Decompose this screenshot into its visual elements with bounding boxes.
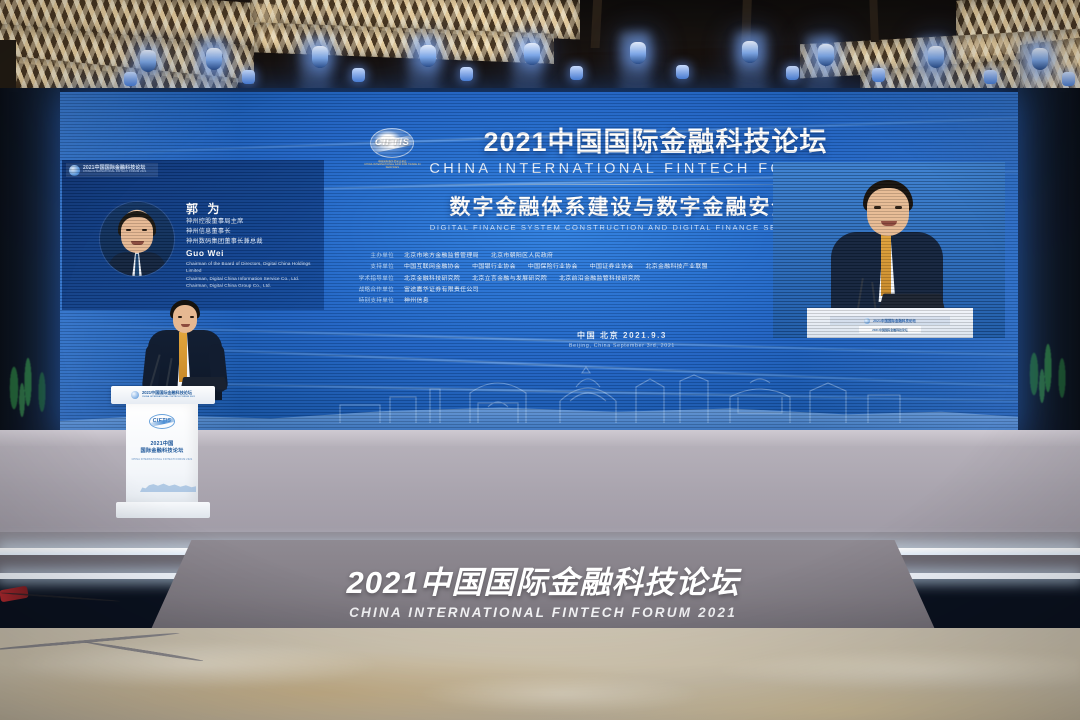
ciftis-globe-icon: [149, 414, 175, 429]
stage-light: [524, 43, 540, 65]
organizer-values: 富途嘉华证券有限责任公司: [404, 286, 489, 295]
ceiling: [0, 0, 1080, 96]
organizer-values: 北京金融科技研究院 北京立言金融与发展研究院 北京前沿金融监管科技研究院: [404, 275, 650, 284]
speaker-eye: [190, 316, 194, 318]
card-corner-logo: 2021中国国际金融科技论坛 CHINA INTERNATIONAL FINTE…: [66, 163, 158, 177]
banner-title-en: CHINA INTERNATIONAL FINTECH FORUM 2021: [349, 605, 737, 620]
portrait-eye: [126, 229, 131, 231]
stage-light: [206, 48, 222, 70]
organizer-label: 支持单位: [330, 263, 394, 271]
speaking-podium: 2021中国国际金融科技论坛 CHINA INTERNATIONAL FINTE…: [120, 386, 206, 518]
organizer-name: 北京金融科技研究院: [404, 276, 460, 282]
event-date-en: Beijing, China September 3rd, 2021: [272, 343, 972, 349]
venue-floor: [0, 628, 1080, 720]
ciftis-sub-en: CHINA INTERNATIONAL FAIR FOR TRADE IN SE…: [362, 163, 422, 169]
podium-plate-cn: 2021中国国际金融科技论坛: [142, 390, 192, 395]
stage-light: [140, 50, 156, 72]
stage-light: [818, 44, 834, 66]
forum-title-cn: 2021中国国际金融科技论坛: [429, 120, 881, 159]
organizer-name: 北京金融科技产业联盟: [645, 264, 707, 270]
organizer-values: 神州信息: [404, 297, 439, 306]
feed-face: [867, 188, 909, 236]
portrait-eye: [142, 229, 147, 231]
portrait-mouth: [131, 241, 144, 245]
card-corner-logo-text: 2021中国国际金融科技论坛 CHINA INTERNATIONAL FINTE…: [83, 166, 147, 175]
speaker-titles-en: Chairman of the Board of Directors, Digi…: [186, 260, 322, 290]
feed-podium-plate-text: 2021中国国际金融科技论坛: [873, 318, 916, 323]
speaker-face: [173, 305, 197, 333]
stage-light: [786, 66, 799, 80]
stage-light: [872, 68, 885, 82]
ciftis-globe-icon: [69, 165, 80, 176]
organizer-name: 神州信息: [404, 298, 429, 304]
podium-front-panel: CIFTIS 2021中国 国际金融科技论坛 CHINA INTERNATION…: [126, 404, 198, 502]
stage-light: [242, 70, 255, 84]
feed-eye: [874, 206, 881, 209]
stage-light: [1062, 72, 1075, 86]
organizer-label: 学术指导单位: [330, 275, 394, 283]
speaker-lanyard: [179, 332, 187, 382]
stage-light: [420, 45, 436, 67]
stage-light: [928, 46, 944, 68]
organizer-label: 主办单位: [330, 252, 394, 260]
podium-ciftis-logo: CIFTIS: [145, 414, 179, 436]
speaker-name-cn: 郭 为: [186, 200, 222, 217]
organizer-name: 北京立言金融与发展研究院: [472, 276, 547, 282]
organizer-name: 中国银行业协会: [472, 264, 516, 270]
stage-light: [742, 41, 758, 63]
stage-light: [676, 65, 689, 79]
podium-skyline-graphic: [140, 480, 196, 492]
stage-light: [460, 67, 473, 81]
stage-light: [312, 46, 328, 68]
speaker-portrait: [100, 202, 174, 276]
organizer-name: 中国保险行业协会: [528, 264, 578, 270]
organizer-values: 中国互联网金融协会 中国银行业协会 中国保险行业协会 中国证券业协会 北京金融科…: [404, 263, 718, 272]
feed-lower-third-tag: 2021中国国际金融科技论坛: [859, 326, 921, 333]
live-camera-feed: 2021中国国际金融科技论坛 2021中国国际金融科技论坛: [773, 162, 1005, 338]
organizer-name: 北京市朝阳区人民政府: [491, 253, 553, 259]
stage-light: [352, 68, 365, 82]
conference-stage-photo: 2021中国国际金融科技论坛 CHINA INTERNATIONAL FINTE…: [0, 0, 1080, 720]
stage-light: [984, 70, 997, 84]
organizer-label: 战略合作单位: [330, 286, 394, 294]
feed-eye: [895, 206, 902, 209]
wall-right-return: [1018, 88, 1080, 448]
stage-light: [570, 66, 583, 80]
stage-light: [630, 42, 646, 64]
feed-podium: 2021中国国际金融科技论坛: [807, 308, 973, 338]
ciftis-wordmark: CIFTIS: [375, 137, 410, 148]
feed-podium-plate: 2021中国国际金融科技论坛: [830, 316, 950, 325]
organizer-name: 中国互联网金融协会: [404, 264, 460, 270]
organizer-label: 特别支持单位: [330, 297, 394, 305]
podium-plate-text: 2021中国国际金融科技论坛 CHINA INTERNATIONAL FINTE…: [142, 391, 195, 399]
ciftis-logo: CIFTIS 中国国际服务贸易交易会 CHINA INTERNATIONAL F…: [362, 124, 422, 174]
podium-front-title-en: CHINA INTERNATIONAL FINTECH FORUM 2021: [126, 458, 198, 461]
organizer-name: 富途嘉华证券有限责任公司: [404, 287, 479, 293]
feed-lower-third-text: 2021中国国际金融科技论坛: [872, 328, 908, 332]
ciftis-globe-icon: [131, 391, 139, 399]
organizer-name: 中国证券业协会: [590, 264, 634, 270]
banner-title-cn: 2021中国国际金融科技论坛: [347, 557, 740, 602]
card-logo-title-en: CHINA INTERNATIONAL FINTECH FORUM 2021: [83, 172, 147, 175]
stage-light: [1032, 48, 1048, 70]
title-divider: [412, 184, 832, 185]
decorative-plant: [1022, 324, 1078, 444]
ciftis-globe-icon: [864, 318, 870, 324]
onstage-speaker: [148, 300, 222, 400]
podium-front-title-cn: 2021中国 国际金融科技论坛: [126, 441, 198, 456]
feed-lanyard: [881, 234, 891, 296]
organizer-values: 北京市地方金融监督管理局 北京市朝阳区人民政府: [404, 252, 563, 261]
podium-name-plate: 2021中国国际金融科技论坛 CHINA INTERNATIONAL FINTE…: [111, 386, 215, 404]
ciftis-logo-subtext: 中国国际服务贸易交易会 CHINA INTERNATIONAL FAIR FOR…: [362, 160, 422, 169]
stage-front-banner: 2021中国国际金融科技论坛 CHINA INTERNATIONAL FINTE…: [148, 540, 938, 636]
portrait-face: [121, 217, 153, 253]
podium-base: [116, 502, 210, 518]
organizer-name: 北京前沿金融监管科技研究院: [559, 276, 640, 282]
floor-marble-pattern: [0, 628, 1080, 720]
stage-light: [124, 72, 137, 86]
truss-beam: [869, 0, 879, 42]
wall-left-return: [0, 88, 60, 448]
feed-mouth: [881, 221, 897, 226]
feed-speaker-figure: [825, 180, 949, 312]
speaker-eye: [178, 316, 182, 318]
organizer-name: 北京市地方金融监督管理局: [404, 253, 479, 259]
podium-plate-en: CHINA INTERNATIONAL FINTECH FORUM 2021: [142, 396, 195, 399]
speaker-name-en: Guo Wei: [186, 248, 224, 258]
